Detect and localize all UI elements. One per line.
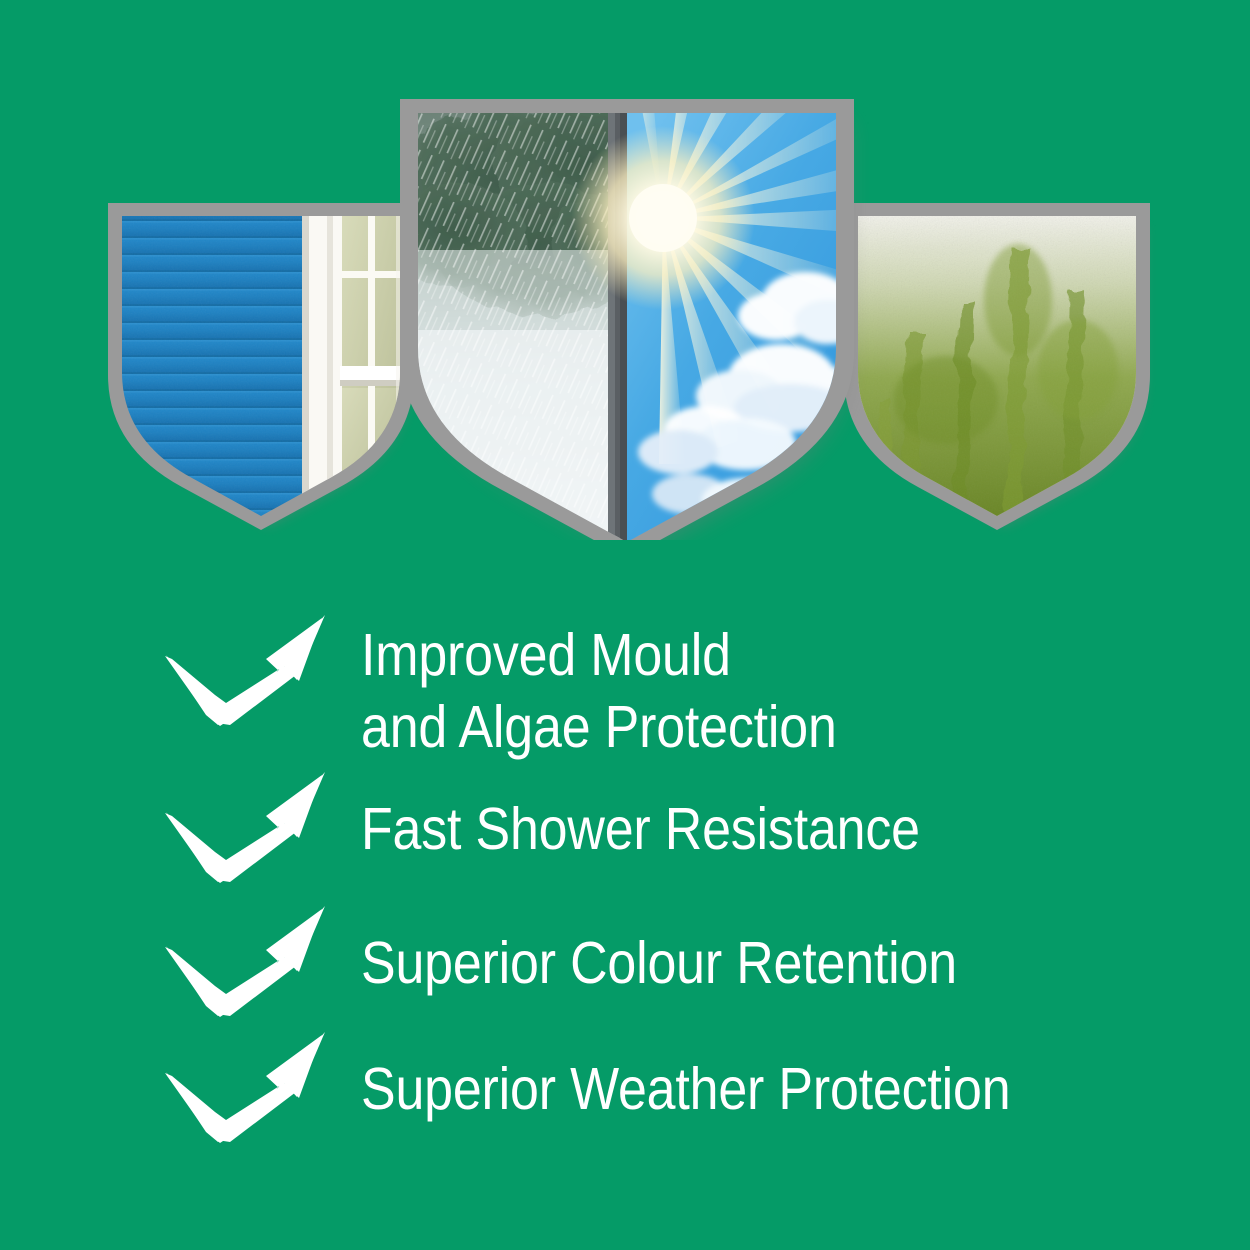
- list-item-label: Fast Shower Resistance: [361, 794, 920, 866]
- shield-artwork-masonry: [122, 216, 414, 526]
- check-arrow-icon: [155, 598, 340, 748]
- check-arrow-icon: [155, 766, 340, 894]
- list-item-label: Superior Weather Protection: [361, 1054, 1010, 1126]
- check-arrow-icon: [155, 1026, 340, 1154]
- list-item: Fast Shower Resistance: [0, 766, 1250, 894]
- list-item: Improved Mould and Algae Protection: [0, 598, 1250, 748]
- list-item: Superior Colour Retention: [0, 900, 1250, 1028]
- check-arrow-icon: [155, 900, 340, 1028]
- benefits-list: Improved Mould and Algae Protection Fast…: [0, 598, 1250, 1178]
- list-item: Superior Weather Protection: [0, 1026, 1250, 1154]
- shield-algae: [844, 203, 1150, 530]
- list-item-label: Superior Colour Retention: [361, 928, 957, 1000]
- shield-exterior-masonry: [108, 203, 414, 530]
- shield-group: [0, 0, 1250, 540]
- promo-graphic: Improved Mould and Algae Protection Fast…: [0, 0, 1250, 1250]
- shield-artwork-algae: [858, 216, 1136, 526]
- list-item-label: Improved Mould and Algae Protection: [361, 620, 837, 764]
- shield-weather: [380, 22, 883, 540]
